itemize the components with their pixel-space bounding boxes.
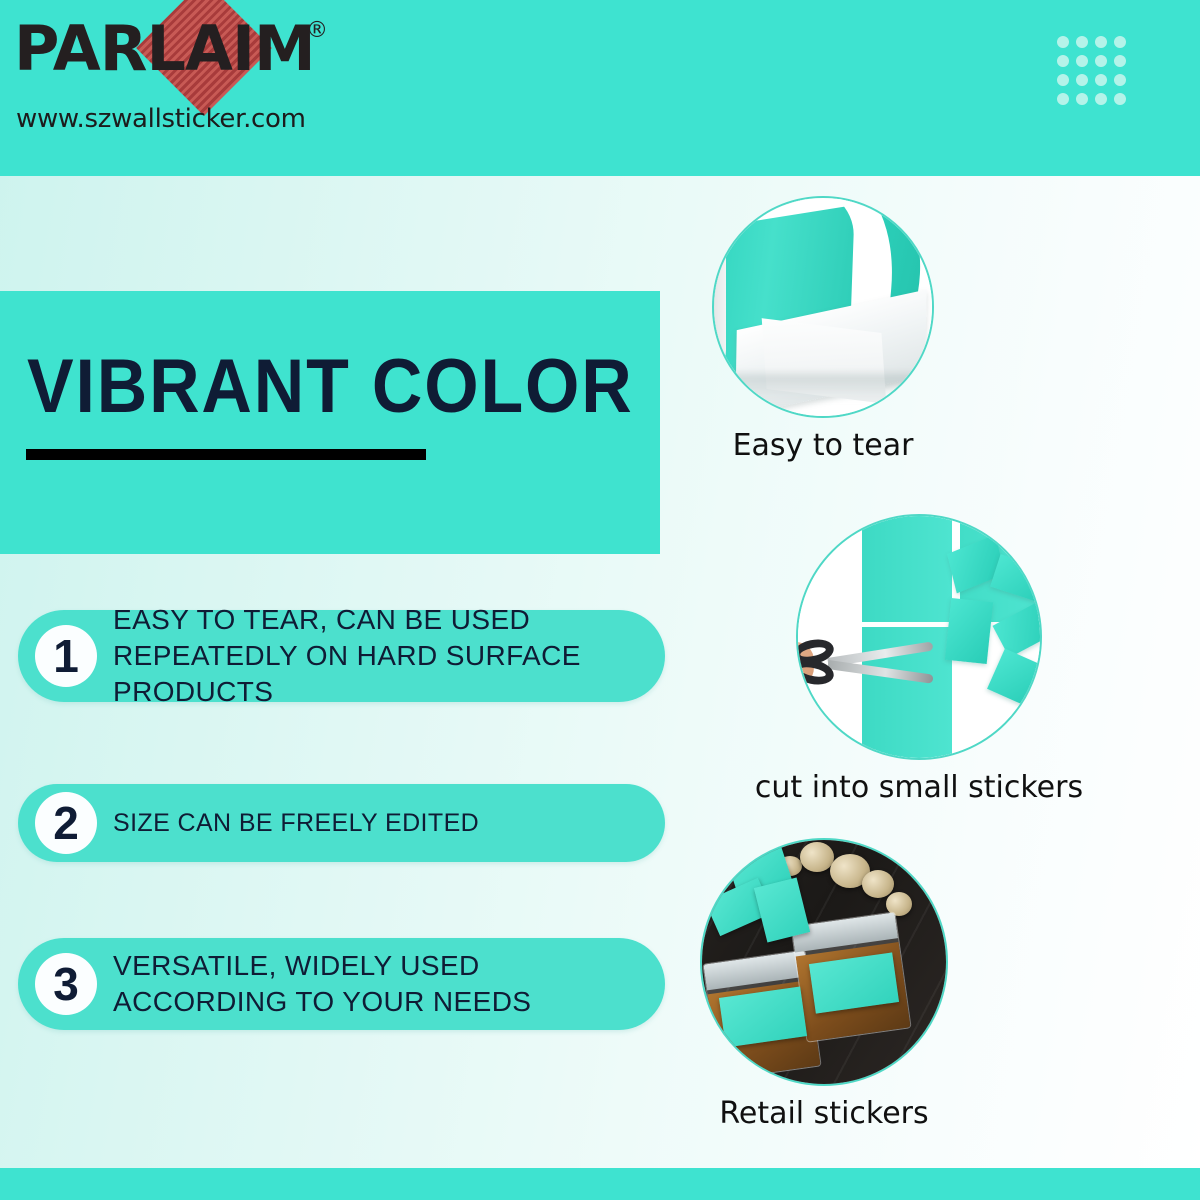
grid-dot (1076, 55, 1088, 67)
photo-caption: cut into small stickers (755, 770, 1083, 805)
photo-item-retail-stickers: Retail stickers (700, 838, 948, 1086)
feature-text: SIZE CAN BE FREELY EDITED (113, 807, 643, 839)
grid-dot (1095, 74, 1107, 86)
website-url: www.szwallsticker.com (16, 104, 306, 134)
grid-dot (1095, 55, 1107, 67)
tape-roll-peeling-photo (712, 196, 934, 418)
feature-text: EASY TO TEAR, CAN BE USED REPEATEDLY ON … (113, 602, 643, 710)
scissors-icon (796, 634, 934, 690)
title-block: VIBRANT COLOR (0, 291, 660, 554)
dot-grid-icon (1057, 36, 1133, 112)
grid-dot (1095, 36, 1107, 48)
photo-item-easy-to-tear: Easy to tear (712, 196, 934, 418)
feature-text: VERSATILE, WIDELY USED ACCORDING TO YOUR… (113, 948, 643, 1020)
feature-item-2: 2 SIZE CAN BE FREELY EDITED (18, 784, 665, 862)
grid-dot (1057, 55, 1069, 67)
cut-sticker-piece (945, 598, 993, 664)
grid-dot (1057, 36, 1069, 48)
grid-dot (1057, 74, 1069, 86)
tape-edge (712, 226, 726, 374)
grid-dot (1114, 93, 1126, 105)
grid-dot (1076, 36, 1088, 48)
feature-number-badge: 2 (35, 792, 97, 854)
infographic-page: PARLAIM ® www.szwallsticker.com VIBRANT … (0, 0, 1200, 1200)
grid-dot (1057, 93, 1069, 105)
title-underline (26, 449, 426, 460)
grid-dot (1076, 74, 1088, 86)
labeled-jars-photo (700, 838, 948, 1086)
grid-dot (1114, 55, 1126, 67)
dried-flower (862, 870, 894, 898)
registered-trademark-icon: ® (306, 18, 328, 43)
brand-name: PARLAIM (14, 8, 315, 90)
header-band: PARLAIM ® www.szwallsticker.com (0, 0, 1200, 176)
photo-caption: Retail stickers (719, 1096, 928, 1131)
brand-logo: PARLAIM ® (14, 6, 354, 88)
feature-number-badge: 1 (35, 625, 97, 687)
grid-dot (1095, 93, 1107, 105)
photo-item-cut-stickers: cut into small stickers (796, 514, 1042, 760)
grid-dot (1114, 74, 1126, 86)
page-title: VIBRANT COLOR (27, 343, 634, 430)
feature-item-1: 1 EASY TO TEAR, CAN BE USED REPEATEDLY O… (18, 610, 665, 702)
scissors-cutting-strip-photo (796, 514, 1042, 760)
footer-band (0, 1168, 1200, 1200)
feature-number-badge: 3 (35, 953, 97, 1015)
photo-caption: Easy to tear (733, 428, 914, 463)
grid-dot (1076, 93, 1088, 105)
feature-item-3: 3 VERSATILE, WIDELY USED ACCORDING TO YO… (18, 938, 665, 1030)
dried-flower (800, 842, 834, 872)
grid-dot (1114, 36, 1126, 48)
